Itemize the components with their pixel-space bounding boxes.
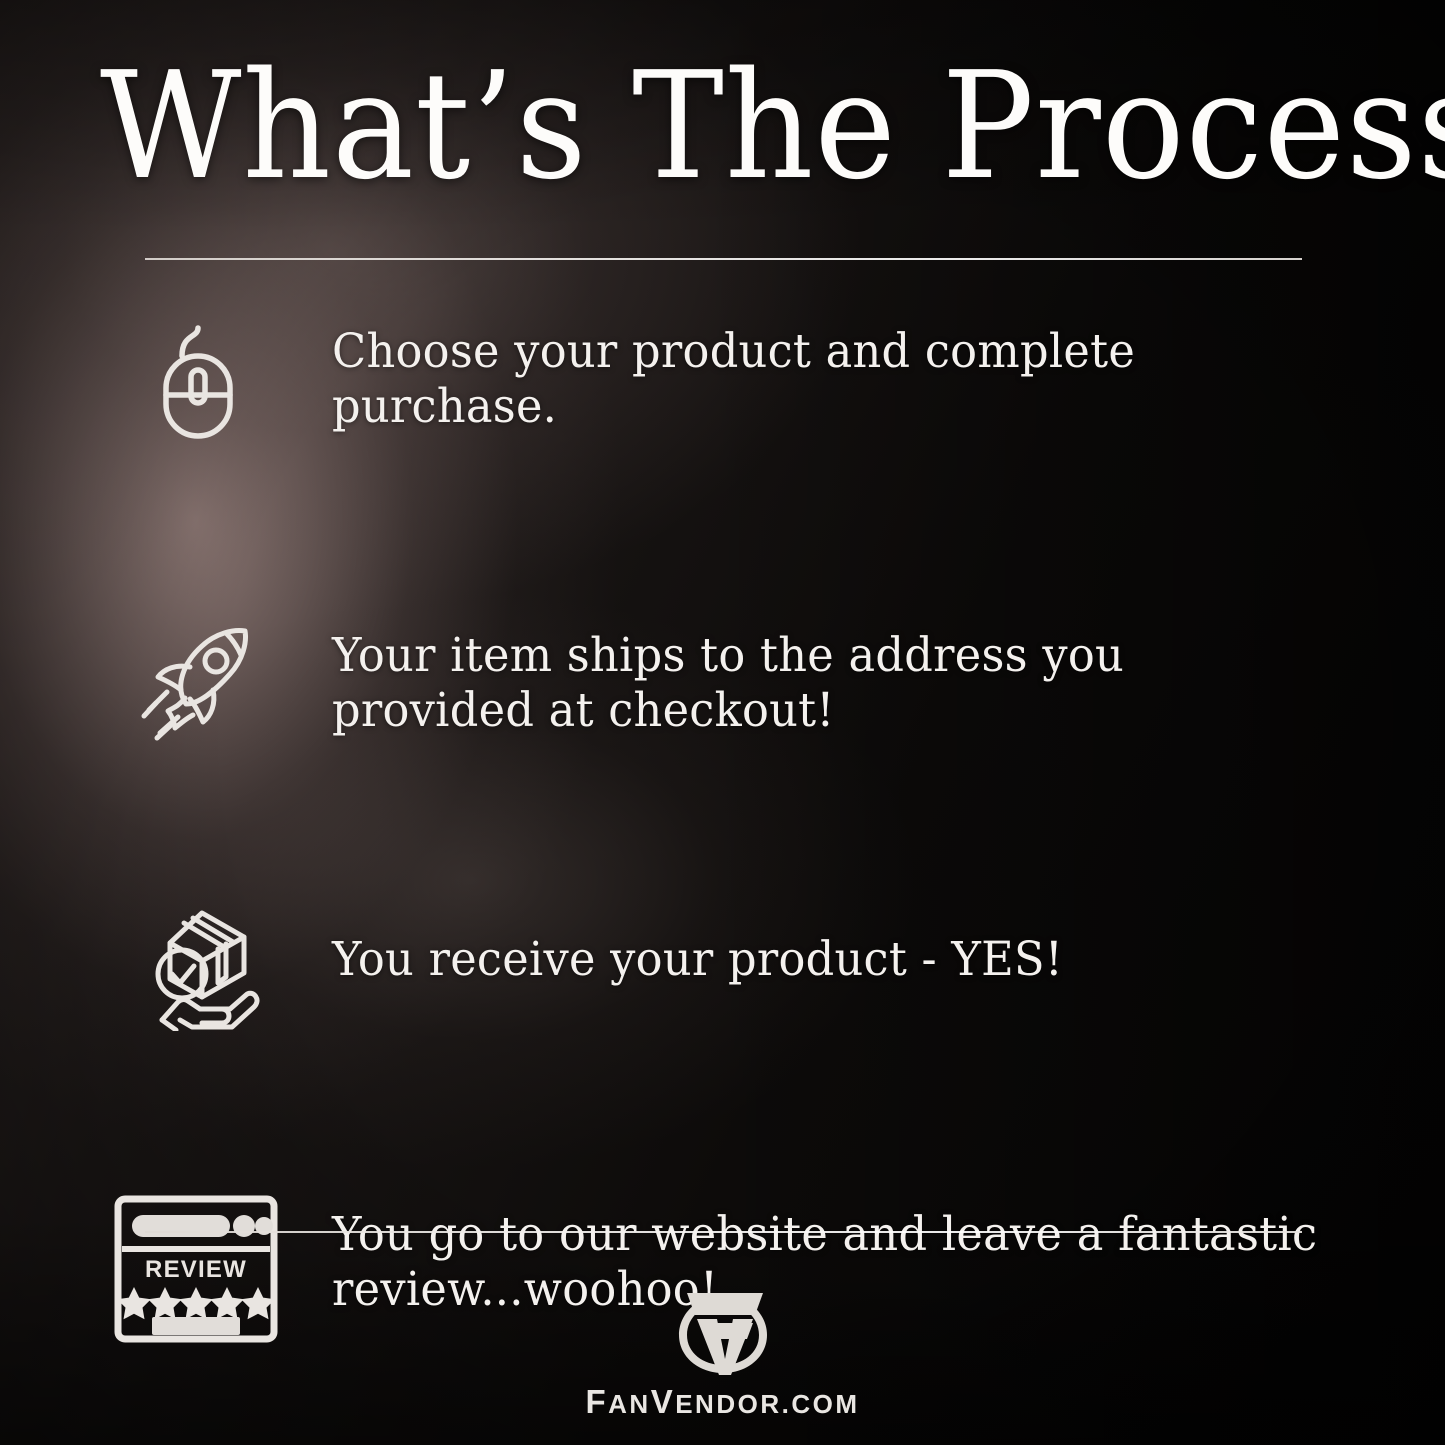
steps-list: Choose your product and complete purchas… [0, 300, 1445, 900]
wordmark-endor: ENDOR [675, 1389, 781, 1419]
divider-bottom [145, 1231, 1302, 1233]
footer-wordmark: FANVENDOR.COM [585, 1383, 859, 1421]
step-label: You receive your product - YES! [332, 932, 1235, 987]
divider-top [145, 258, 1302, 260]
fanvendor-shield-logo [667, 1285, 779, 1377]
wordmark-an: AN [608, 1389, 651, 1419]
list-item: You are now a member of the FanVendor co… [0, 780, 1445, 900]
wordmark-dotcom: .COM [782, 1389, 860, 1419]
package-in-hand-icon [140, 903, 264, 1031]
step-label: Choose your product and complete purchas… [332, 324, 1235, 435]
footer: FANVENDOR.COM [0, 1285, 1445, 1421]
list-item: Your item ships to the address you provi… [0, 420, 1445, 540]
page-title: What’s The Process [100, 52, 1281, 200]
review-icon-label: REVIEW [145, 1256, 247, 1283]
wordmark-v: V [651, 1383, 676, 1420]
list-item: You receive your product - YES! [0, 540, 1445, 660]
wordmark-f: F [585, 1383, 608, 1420]
list-item: Choose your product and complete purchas… [0, 300, 1445, 420]
process-infographic: What’s The Process Choose you [0, 0, 1445, 1445]
list-item: REVIEW You go to our website and [0, 660, 1445, 780]
